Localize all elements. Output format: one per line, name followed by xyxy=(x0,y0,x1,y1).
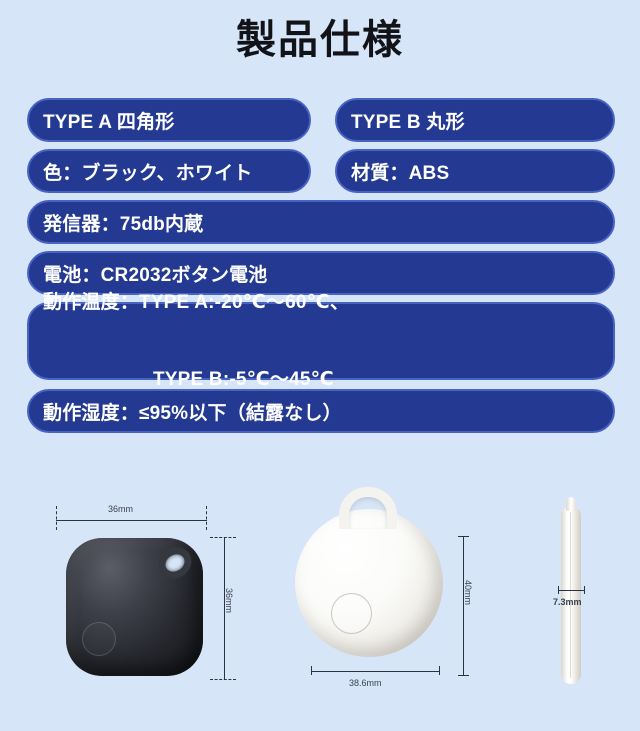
product-gallery: 36mm 36mm 40mm 38.6mm xyxy=(0,480,640,731)
keyring-loop-icon xyxy=(339,487,397,529)
spec-color-label: 色：ブラック、ホワイト xyxy=(43,158,253,185)
spec-row-temperature: 動作温度：TYPE A:-20℃〜60℃、 TYPE B:-5℃〜45℃ xyxy=(27,302,615,380)
spec-humidity-label: 動作湿度：≤95%以下（結露なし） xyxy=(43,398,342,425)
side-view-loop-nub xyxy=(566,497,576,511)
black-width-extension-left xyxy=(56,506,58,530)
side-view-body xyxy=(561,506,581,684)
black-width-label: 36mm xyxy=(108,504,133,514)
spec-row-humidity: 動作湿度：≤95%以下（結露なし） xyxy=(27,389,615,433)
spec-type-a-label: TYPE A 四角形 xyxy=(43,107,175,134)
black-width-extension-right xyxy=(206,506,208,530)
spec-row-material: 材質：ABS xyxy=(335,149,615,193)
white-height-dimension-line xyxy=(463,536,464,676)
black-height-label: 36mm xyxy=(224,588,234,613)
spec-row-color: 色：ブラック、ホワイト xyxy=(27,149,311,193)
spec-type-b-label: TYPE B 丸形 xyxy=(351,107,465,134)
spec-sounder-label: 発信器：75db内蔵 xyxy=(43,209,203,236)
spec-temperature-line1: 動作温度：TYPE A:-20℃〜60℃、 xyxy=(43,290,349,316)
keyring-hole-icon xyxy=(153,541,198,584)
spec-material-label: 材質：ABS xyxy=(351,158,449,185)
side-view-seam-line xyxy=(570,512,571,678)
white-tracker-button xyxy=(331,593,372,634)
thickness-dimension-line xyxy=(558,590,585,591)
black-tracker-body xyxy=(66,538,203,676)
product-spec-page: 製品仕様 TYPE A 四角形 TYPE B 丸形 色：ブラック、ホワイト 材質… xyxy=(0,0,640,731)
black-tracker-button xyxy=(82,622,116,656)
white-width-dimension-line xyxy=(311,671,440,672)
page-title: 製品仕様 xyxy=(0,18,640,62)
white-tracker-body xyxy=(295,509,443,657)
white-height-label: 40mm xyxy=(463,580,473,605)
spec-row-type-a: TYPE A 四角形 xyxy=(27,98,311,142)
thickness-label: 7.3mm xyxy=(553,597,582,607)
black-width-dimension-line xyxy=(56,520,207,521)
spec-row-type-b: TYPE B 丸形 xyxy=(335,98,615,142)
spec-row-sounder: 発信器：75db内蔵 xyxy=(27,200,615,244)
black-height-extension-bottom xyxy=(210,679,236,681)
white-width-label: 38.6mm xyxy=(349,678,382,688)
black-height-extension-top xyxy=(210,537,236,539)
